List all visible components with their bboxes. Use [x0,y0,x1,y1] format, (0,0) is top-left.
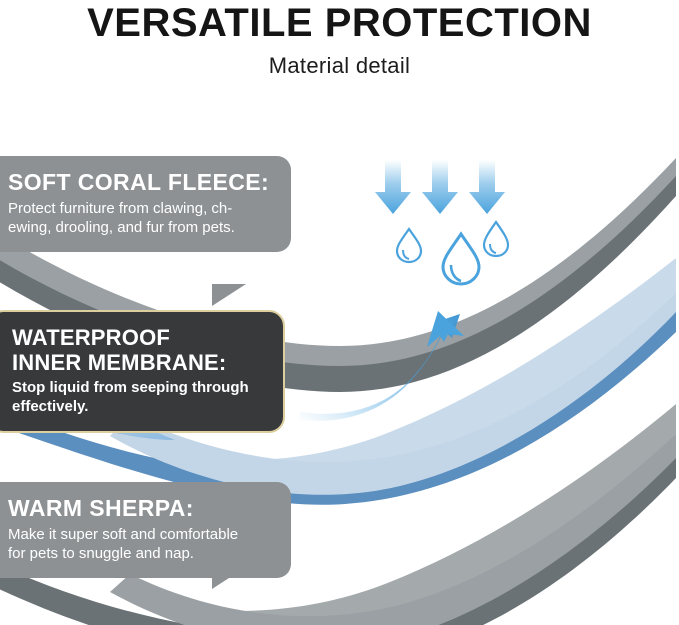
water-droplet-icon [443,234,479,284]
callout-heading-membrane: WATERPROOF INNER MEMBRANE: [12,326,265,375]
water-droplet-icon [397,229,421,262]
down-arrow-icon [469,160,505,214]
callout-body-sherpa: Make it super soft and comfortable for p… [8,526,273,564]
header: VERSATILE PROTECTION Material detail [0,0,679,79]
page-subtitle: Material detail [0,44,679,79]
callout-tail-fleece [212,284,246,306]
water-droplet-icon [484,222,508,256]
callout-body-membrane: Stop liquid from seeping through effecti… [12,379,265,417]
callout-body-fleece: Protect furniture from clawing, ch- ewin… [8,200,273,238]
down-arrow-icon [375,160,411,214]
callout-heading-sherpa: WARM SHERPA: [8,496,273,522]
callout-warm-sherpa[interactable]: WARM SHERPA: Make it super soft and comf… [0,482,291,578]
infographic-root: VERSATILE PROTECTION Material detail [0,0,679,625]
callout-waterproof-inner-membrane[interactable]: WATERPROOF INNER MEMBRANE: Stop liquid f… [0,310,285,433]
down-arrow-icon [422,160,458,214]
page-title: VERSATILE PROTECTION [0,0,679,44]
callout-soft-coral-fleece[interactable]: SOFT CORAL FLEECE: Protect furniture fro… [0,156,291,252]
curved-up-arrow-icon [298,296,464,421]
callout-heading-fleece: SOFT CORAL FLEECE: [8,170,273,196]
down-arrow-icon-group [375,160,505,214]
water-droplet-icon-group [397,222,508,284]
